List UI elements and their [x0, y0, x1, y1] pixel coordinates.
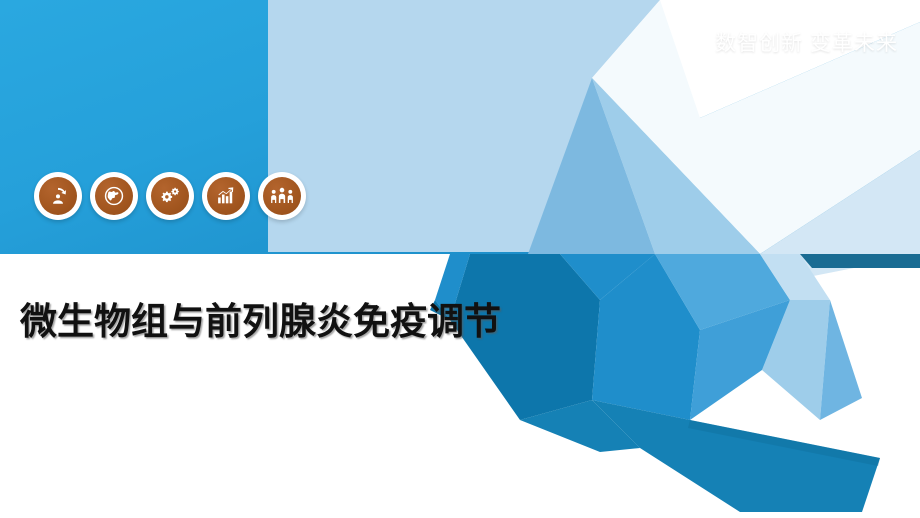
bar-chart-icon — [207, 177, 245, 215]
icon-badge-gears[interactable] — [146, 172, 194, 220]
slide-tagline: 数智创新 变革未来 — [715, 27, 898, 57]
recycle-people-icon — [39, 177, 77, 215]
icon-badge-row — [34, 172, 306, 220]
gears-icon — [151, 177, 189, 215]
icon-badge-chart[interactable] — [202, 172, 250, 220]
poly-band-edge-right — [800, 254, 920, 268]
icon-badge-recycle[interactable] — [34, 172, 82, 220]
team-people-icon — [263, 177, 301, 215]
slide-title: 微生物组与前列腺炎免疫调节 — [20, 296, 520, 349]
low-poly-decoration — [0, 0, 920, 518]
globe-icon — [95, 177, 133, 215]
icon-badge-team[interactable] — [258, 172, 306, 220]
slide-canvas: 数智创新 变革未来 — [0, 0, 920, 518]
icon-badge-globe[interactable] — [90, 172, 138, 220]
